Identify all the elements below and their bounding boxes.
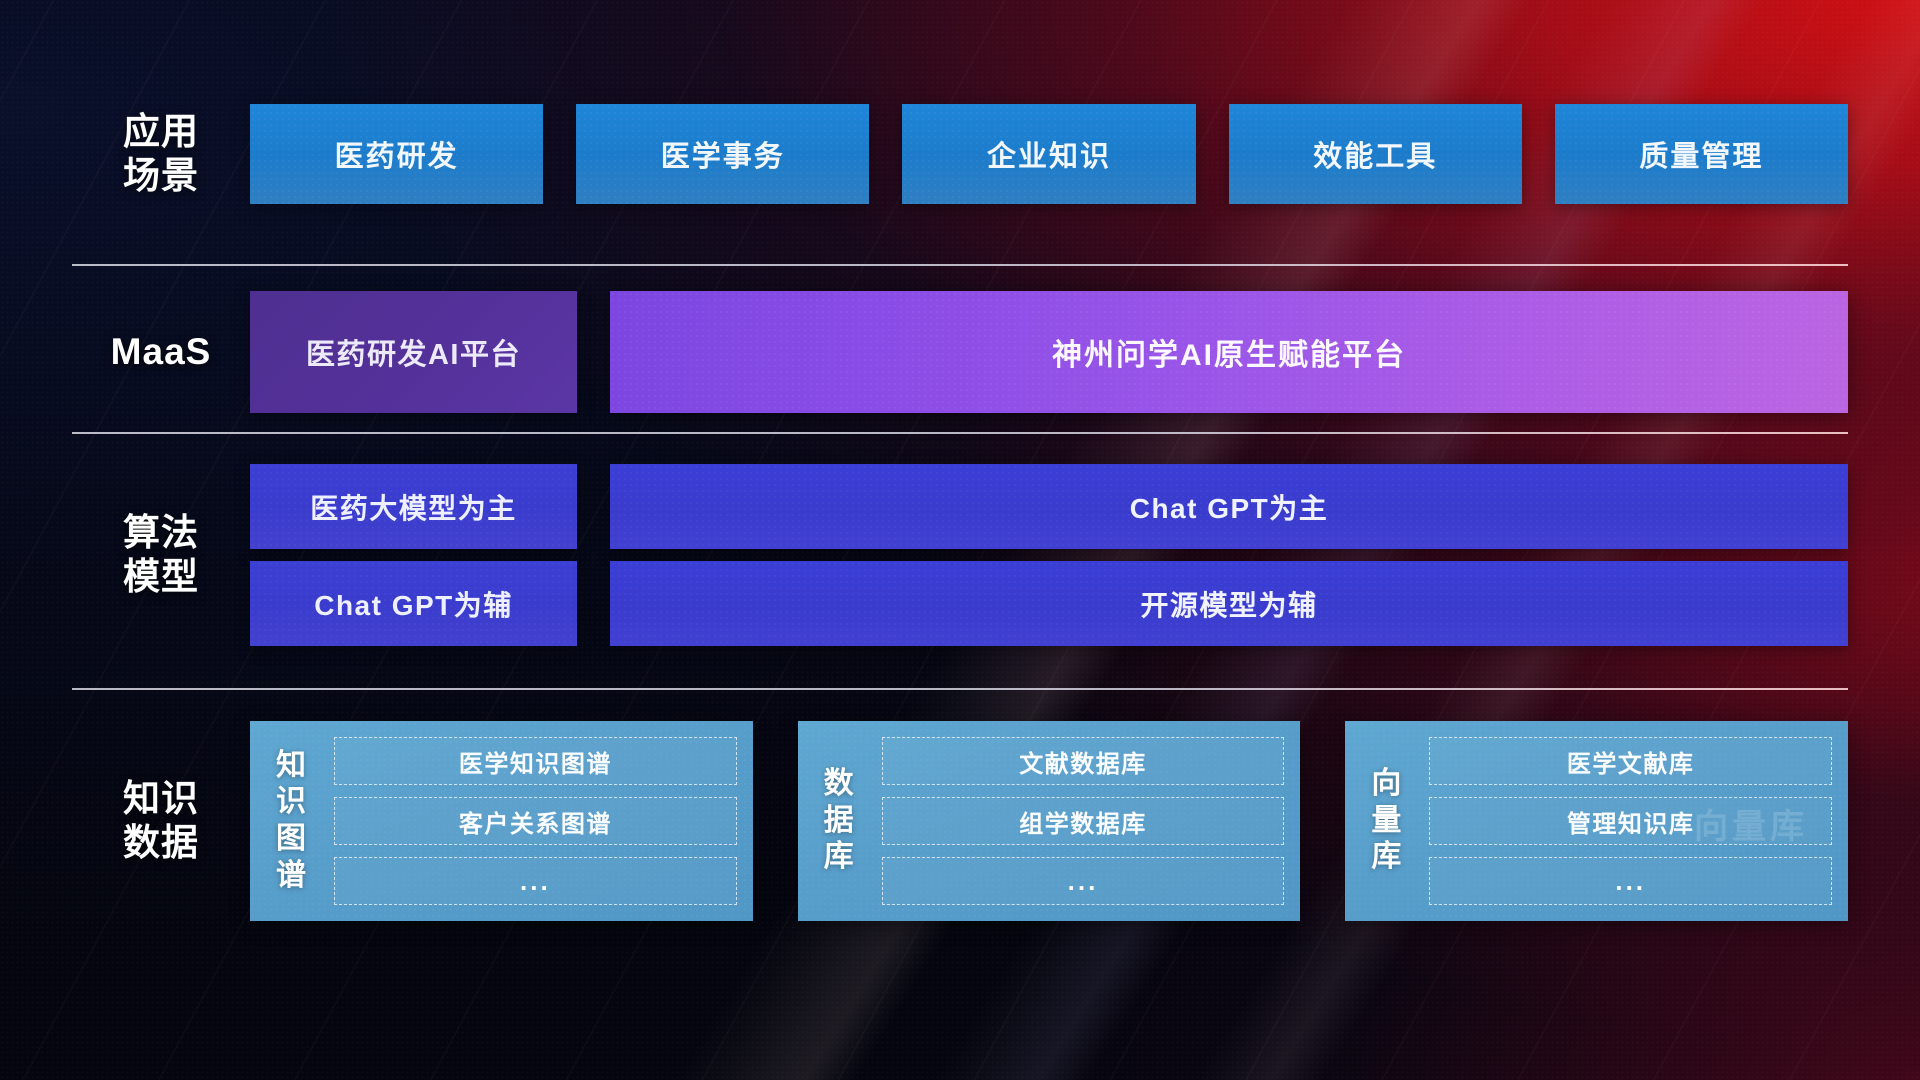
knowledge-item-more[interactable]: ... [334,857,737,905]
knowledge-item-more[interactable]: ... [882,857,1285,905]
app-card-label: 医药研发 [335,133,459,175]
divider-algorithm-knowledge [72,688,1848,690]
knowledge-item-management-knowledge-store[interactable]: 管理知识库 [1429,797,1832,845]
algorithm-line-secondary: Chat GPT为辅 开源模型为辅 [250,561,1848,646]
algorithm-line-primary: 医药大模型为主 Chat GPT为主 [250,464,1848,549]
algo-card-label: 开源模型为辅 [1140,584,1317,624]
knowledge-item-customer-relation-graph[interactable]: 客户关系图谱 [334,797,737,845]
knowledge-item-literature-database[interactable]: 文献数据库 [882,737,1285,785]
algo-card-label: Chat GPT为辅 [314,584,513,624]
knowledge-panel-database: 数据库 文献数据库 组学数据库 ... [798,721,1301,921]
maas-card-shenzhou-wenxue-platform[interactable]: 神州问学AI原生赋能平台 [610,291,1848,413]
row-knowledge-data: 知识 数据 知识图谱 医学知识图谱 客户关系图谱 ... 数据库 [72,721,1848,921]
knowledge-item-more[interactable]: ... [1429,857,1832,905]
app-card-label: 质量管理 [1639,133,1763,175]
algo-card-opensource-secondary[interactable]: 开源模型为辅 [610,561,1848,646]
row-label-knowledge: 知识 数据 [72,777,250,864]
knowledge-item-medical-literature-store[interactable]: 医学文献库 [1429,737,1832,785]
algo-card-chatgpt-primary[interactable]: Chat GPT为主 [610,464,1848,549]
app-card-efficiency-tools[interactable]: 效能工具 [1229,104,1522,204]
row-label-algorithm: 算法 模型 [72,511,250,598]
maas-cards-container: 医药研发AI平台 神州问学AI原生赋能平台 [250,291,1848,413]
row-algorithm-model: 算法 模型 医药大模型为主 Chat GPT为主 Chat GPT为辅 [72,464,1848,646]
row-label-maas: MaaS [72,330,250,374]
knowledge-panel-knowledge-graph: 知识图谱 医学知识图谱 客户关系图谱 ... [250,721,753,921]
app-card-label: 企业知识 [987,133,1111,175]
knowledge-panel-items: 医学知识图谱 客户关系图谱 ... [334,737,737,905]
algo-card-medicine-llm-primary[interactable]: 医药大模型为主 [250,464,577,549]
knowledge-panel-title: 向量库 [1357,766,1415,876]
algo-card-label: Chat GPT为主 [1130,487,1329,527]
knowledge-panels-container: 知识图谱 医学知识图谱 客户关系图谱 ... 数据库 文献数据库 组学数据库 .… [250,721,1848,921]
divider-maas-algorithm [72,432,1848,434]
maas-card-label: 医药研发AI平台 [306,331,521,373]
app-card-medical-affairs[interactable]: 医学事务 [576,104,869,204]
algo-card-label: 医药大模型为主 [310,487,517,527]
algorithm-cards-container: 医药大模型为主 Chat GPT为主 Chat GPT为辅 开源模型为辅 [250,464,1848,646]
row-maas: MaaS 医药研发AI平台 神州问学AI原生赋能平台 [72,291,1848,413]
knowledge-panel-title: 知识图谱 [262,748,320,894]
app-card-label: 医学事务 [661,133,785,175]
app-card-enterprise-knowledge[interactable]: 企业知识 [902,104,1195,204]
knowledge-panel-title: 数据库 [810,766,868,876]
app-card-label: 效能工具 [1313,133,1437,175]
knowledge-panel-items: 文献数据库 组学数据库 ... [882,737,1285,905]
algo-card-chatgpt-secondary[interactable]: Chat GPT为辅 [250,561,577,646]
divider-application-maas [72,264,1848,266]
knowledge-item-omics-database[interactable]: 组学数据库 [882,797,1285,845]
app-card-quality-management[interactable]: 质量管理 [1555,104,1848,204]
architecture-rows: 应用 场景 医药研发 医学事务 企业知识 效能工具 [0,0,1920,1080]
app-card-medicine-rd[interactable]: 医药研发 [250,104,543,204]
row-label-application: 应用 场景 [72,110,250,197]
application-cards-container: 医药研发 医学事务 企业知识 效能工具 质量管理 [250,104,1848,204]
knowledge-item-medical-knowledge-graph[interactable]: 医学知识图谱 [334,737,737,785]
maas-card-medicine-ai-platform[interactable]: 医药研发AI平台 [250,291,577,413]
row-application-scenarios: 应用 场景 医药研发 医学事务 企业知识 效能工具 [72,104,1848,204]
knowledge-panel-items: 医学文献库 管理知识库 ... [1429,737,1832,905]
maas-card-label: 神州问学AI原生赋能平台 [1052,330,1406,374]
knowledge-panel-vector-store: 向量库 向量库 医学文献库 管理知识库 ... [1345,721,1848,921]
diagram-canvas: 应用 场景 医药研发 医学事务 企业知识 效能工具 [0,0,1920,1080]
